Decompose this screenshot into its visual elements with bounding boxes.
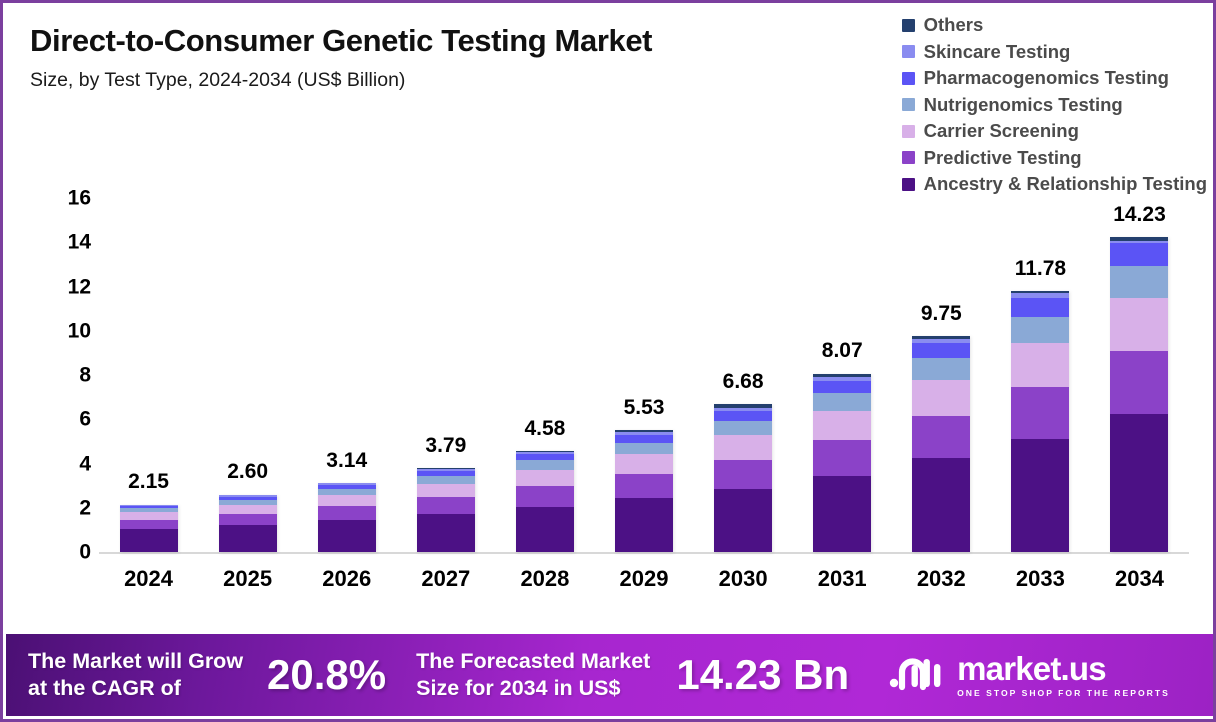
bar-segment[interactable] — [516, 507, 574, 552]
legend-item[interactable]: Nutrigenomics Testing — [902, 92, 1123, 119]
bar-total-label: 5.53 — [624, 397, 665, 418]
bar-column[interactable]: 3.14 — [297, 198, 396, 552]
legend-item-label: Skincare Testing — [924, 43, 1071, 62]
legend-item[interactable]: Predictive Testing — [902, 145, 1082, 172]
forecast-caption: The Forecasted Market Size for 2034 in U… — [416, 648, 650, 702]
bar-segment[interactable] — [813, 381, 871, 393]
plot-area: 0246810121416 2.152.603.143.794.585.536.… — [3, 198, 1216, 563]
stacked-bar[interactable] — [714, 404, 772, 552]
cagr-caption-line2: at the CAGR of — [28, 675, 243, 702]
bar-segment[interactable] — [912, 358, 970, 380]
bar-total-label: 6.68 — [723, 371, 764, 392]
x-axis: 2024202520262027202820292030203120322033… — [99, 568, 1189, 598]
y-axis-tick-label: 16 — [68, 188, 91, 209]
bar-segment[interactable] — [714, 435, 772, 459]
cagr-value: 20.8% — [267, 654, 386, 696]
bar-segment[interactable] — [615, 435, 673, 443]
y-axis-tick-label: 0 — [79, 542, 91, 563]
y-axis-tick-label: 4 — [79, 453, 91, 474]
bar-segment[interactable] — [813, 393, 871, 411]
bar-group: 2.152.603.143.794.585.536.688.079.7511.7… — [99, 198, 1189, 552]
bar-segment[interactable] — [615, 454, 673, 474]
y-axis-tick-label: 14 — [68, 232, 91, 253]
x-axis-tick-label: 2027 — [396, 568, 495, 598]
legend-item[interactable]: Others — [902, 12, 984, 39]
bar-total-label: 2.15 — [128, 471, 169, 492]
bar-column[interactable]: 14.23 — [1090, 198, 1189, 552]
bar-total-label: 2.60 — [227, 461, 268, 482]
bar-segment[interactable] — [318, 520, 376, 552]
stacked-bar[interactable] — [1011, 291, 1069, 552]
y-axis-tick-label: 2 — [79, 497, 91, 518]
legend-swatch-icon — [902, 98, 915, 111]
x-axis-baseline — [99, 552, 1189, 554]
bar-segment[interactable] — [120, 520, 178, 529]
bar-segment[interactable] — [219, 525, 277, 552]
bar-segment[interactable] — [1110, 243, 1168, 266]
bar-total-label: 8.07 — [822, 340, 863, 361]
bar-segment[interactable] — [1011, 387, 1069, 439]
summary-banner: The Market will Grow at the CAGR of 20.8… — [6, 634, 1216, 716]
bar-segment[interactable] — [1110, 298, 1168, 351]
legend-swatch-icon — [902, 72, 915, 85]
legend-item-label: Carrier Screening — [924, 122, 1079, 141]
x-axis-tick-label: 2033 — [991, 568, 1090, 598]
legend-swatch-icon — [902, 178, 915, 191]
bar-segment[interactable] — [516, 486, 574, 506]
bar-column[interactable]: 2.15 — [99, 198, 198, 552]
legend-item-label: Pharmacogenomics Testing — [924, 69, 1169, 88]
cagr-caption: The Market will Grow at the CAGR of — [28, 648, 243, 702]
bar-segment[interactable] — [912, 458, 970, 552]
stacked-bar[interactable] — [318, 483, 376, 552]
bar-segment[interactable] — [615, 443, 673, 455]
forecast-caption-line1: The Forecasted Market — [416, 648, 650, 675]
bar-segment[interactable] — [1011, 343, 1069, 387]
legend-item[interactable]: Pharmacogenomics Testing — [902, 65, 1169, 92]
legend-item-label: Predictive Testing — [924, 149, 1082, 168]
bar-total-label: 11.78 — [1015, 258, 1066, 279]
bar-column[interactable]: 3.79 — [396, 198, 495, 552]
bar-total-label: 9.75 — [921, 303, 962, 324]
bar-segment[interactable] — [318, 506, 376, 520]
bar-segment[interactable] — [714, 411, 772, 421]
market-us-logo-icon — [889, 653, 945, 698]
stacked-bar[interactable] — [219, 494, 277, 552]
bar-column[interactable]: 6.68 — [694, 198, 793, 552]
legend-item[interactable]: Carrier Screening — [902, 118, 1079, 145]
legend-swatch-icon — [902, 19, 915, 32]
bar-segment[interactable] — [516, 470, 574, 486]
bar-segment[interactable] — [615, 498, 673, 552]
bar-segment[interactable] — [912, 416, 970, 458]
logo-tagline: ONE STOP SHOP FOR THE REPORTS — [957, 689, 1170, 698]
logo-name: market.us — [957, 652, 1170, 685]
bar-segment[interactable] — [417, 514, 475, 552]
bar-segment[interactable] — [417, 497, 475, 514]
bar-segment[interactable] — [813, 411, 871, 441]
chart-header: Direct-to-Consumer Genetic Testing Marke… — [30, 25, 830, 91]
bar-segment[interactable] — [813, 440, 871, 475]
stacked-bar[interactable] — [1110, 237, 1168, 552]
legend-item[interactable]: Skincare Testing — [902, 39, 1071, 66]
bar-column[interactable]: 8.07 — [793, 198, 892, 552]
legend-item-label: Ancestry & Relationship Testing — [924, 175, 1207, 194]
bar-column[interactable]: 9.75 — [892, 198, 991, 552]
x-axis-tick-label: 2032 — [892, 568, 991, 598]
bar-segment[interactable] — [1011, 439, 1069, 552]
forecast-value: 14.23 Bn — [676, 654, 849, 696]
legend-item[interactable]: Ancestry & Relationship Testing — [902, 171, 1207, 198]
x-axis-tick-label: 2028 — [495, 568, 594, 598]
legend-item-label: Others — [924, 16, 984, 35]
y-axis: 0246810121416 — [41, 198, 91, 556]
forecast-caption-line2: Size for 2034 in US$ — [416, 675, 650, 702]
stacked-bar[interactable] — [813, 373, 871, 552]
stacked-bar[interactable] — [417, 468, 475, 552]
bar-column[interactable]: 5.53 — [594, 198, 693, 552]
bar-total-label: 14.23 — [1113, 204, 1166, 225]
x-axis-tick-label: 2026 — [297, 568, 396, 598]
x-axis-tick-label: 2024 — [99, 568, 198, 598]
legend-swatch-icon — [902, 151, 915, 164]
bar-segment[interactable] — [714, 460, 772, 489]
legend-swatch-icon — [902, 125, 915, 138]
bar-segment[interactable] — [318, 495, 376, 506]
stacked-bar[interactable] — [615, 430, 673, 552]
stacked-bar[interactable] — [516, 451, 574, 552]
bar-column[interactable]: 11.78 — [991, 198, 1090, 552]
x-axis-tick-label: 2025 — [198, 568, 297, 598]
stacked-bar[interactable] — [912, 336, 970, 552]
bar-column[interactable]: 4.58 — [495, 198, 594, 552]
bar-segment[interactable] — [912, 380, 970, 416]
bar-segment[interactable] — [813, 476, 871, 552]
market-us-logo[interactable]: market.us ONE STOP SHOP FOR THE REPORTS — [889, 652, 1170, 698]
bar-segment[interactable] — [1110, 351, 1168, 413]
x-axis-tick-label: 2030 — [694, 568, 793, 598]
bar-total-label: 3.79 — [425, 435, 466, 456]
x-axis-tick-label: 2031 — [793, 568, 892, 598]
bar-segment[interactable] — [219, 514, 277, 526]
bar-segment[interactable] — [912, 343, 970, 358]
bar-segment[interactable] — [714, 489, 772, 552]
bar-segment[interactable] — [516, 460, 574, 470]
bar-segment[interactable] — [120, 512, 178, 519]
stacked-bar[interactable] — [120, 504, 178, 552]
bar-segment[interactable] — [417, 476, 475, 484]
bar-column[interactable]: 2.60 — [198, 198, 297, 552]
y-axis-tick-label: 8 — [79, 365, 91, 386]
bar-segment[interactable] — [120, 529, 178, 552]
y-axis-tick-label: 10 — [68, 320, 91, 341]
market-us-logo-text: market.us ONE STOP SHOP FOR THE REPORTS — [957, 652, 1170, 698]
bar-segment[interactable] — [1110, 414, 1168, 552]
y-axis-tick-label: 6 — [79, 409, 91, 430]
bar-segment[interactable] — [219, 505, 277, 514]
bar-total-label: 3.14 — [326, 450, 367, 471]
bar-segment[interactable] — [417, 484, 475, 497]
cagr-caption-line1: The Market will Grow — [28, 648, 243, 675]
chart-frame: Direct-to-Consumer Genetic Testing Marke… — [0, 0, 1216, 722]
bar-segment[interactable] — [1011, 317, 1069, 344]
chart-subtitle: Size, by Test Type, 2024-2034 (US$ Billi… — [30, 70, 830, 91]
bar-segment[interactable] — [1011, 298, 1069, 316]
x-axis-tick-label: 2029 — [594, 568, 693, 598]
bar-total-label: 4.58 — [524, 418, 565, 439]
legend-item-label: Nutrigenomics Testing — [924, 96, 1123, 115]
x-axis-tick-label: 2034 — [1090, 568, 1189, 598]
bar-segment[interactable] — [1110, 266, 1168, 298]
bar-segment[interactable] — [615, 474, 673, 498]
y-axis-tick-label: 12 — [68, 276, 91, 297]
legend-swatch-icon — [902, 45, 915, 58]
bar-segment[interactable] — [714, 421, 772, 435]
chart-legend: OthersSkincare TestingPharmacogenomics T… — [902, 12, 1207, 198]
page-title: Direct-to-Consumer Genetic Testing Marke… — [30, 25, 830, 58]
